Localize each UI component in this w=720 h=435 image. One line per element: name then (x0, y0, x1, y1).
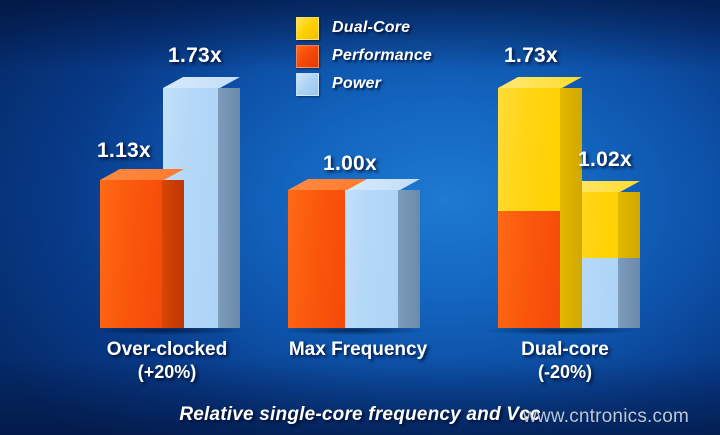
legend-label-dual-core: Dual-Core (332, 19, 410, 37)
chart-canvas: Dual-Core Performance Power 1.13x 1.73x … (0, 0, 720, 435)
bar-front-face (498, 211, 560, 328)
bar-top-face (163, 77, 240, 88)
bar-overclocked-performance (100, 180, 162, 328)
bar-top-face (498, 77, 582, 88)
category-label-line2: (+20%) (72, 361, 262, 384)
bar-side-face (398, 190, 420, 328)
value-label-overclocked-power: 1.73x (150, 44, 240, 68)
bar-side-face (618, 258, 640, 328)
bar-front-face (345, 190, 398, 328)
legend-item-power: Power (296, 70, 432, 98)
bar-side-face (560, 88, 582, 328)
category-label-line1: Dual-core (521, 339, 609, 360)
bar-front-face (100, 180, 162, 328)
bar-side-face (218, 88, 240, 328)
bar-front-face (498, 88, 560, 211)
legend-label-power: Power (332, 75, 381, 93)
bar-side-face (162, 180, 184, 328)
category-label-line2: (-20%) (470, 361, 660, 384)
bar-maxfreq-performance (288, 190, 345, 328)
legend-item-dual-core: Dual-Core (296, 14, 432, 42)
legend-label-performance: Performance (332, 47, 432, 65)
bar-dualcore-performance-stack (498, 88, 560, 211)
legend-item-performance: Performance (296, 42, 432, 70)
legend-swatch-performance (296, 45, 319, 68)
value-label-dualcore-power: 1.02x (560, 148, 650, 172)
bar-side-face (618, 192, 640, 258)
bar-dualcore-performance-base (498, 211, 560, 328)
category-label-line1: Over-clocked (107, 339, 227, 360)
bar-front-face (288, 190, 345, 328)
bar-maxfreq-power (345, 190, 398, 328)
value-label-maxfreq: 1.00x (310, 152, 390, 176)
legend-swatch-dual-core (296, 17, 319, 40)
watermark: www.cntronics.com (523, 406, 689, 428)
value-label-dualcore-performance: 1.73x (486, 44, 576, 68)
category-label-maxfreq: Max Frequency (258, 338, 458, 361)
value-label-overclocked-performance: 1.13x (84, 139, 164, 163)
category-label-overclocked: Over-clocked (+20%) (72, 338, 262, 384)
legend-swatch-power (296, 73, 319, 96)
legend: Dual-Core Performance Power (296, 14, 432, 98)
category-label-dualcore: Dual-core (-20%) (470, 338, 660, 384)
category-label-line1: Max Frequency (289, 339, 427, 360)
